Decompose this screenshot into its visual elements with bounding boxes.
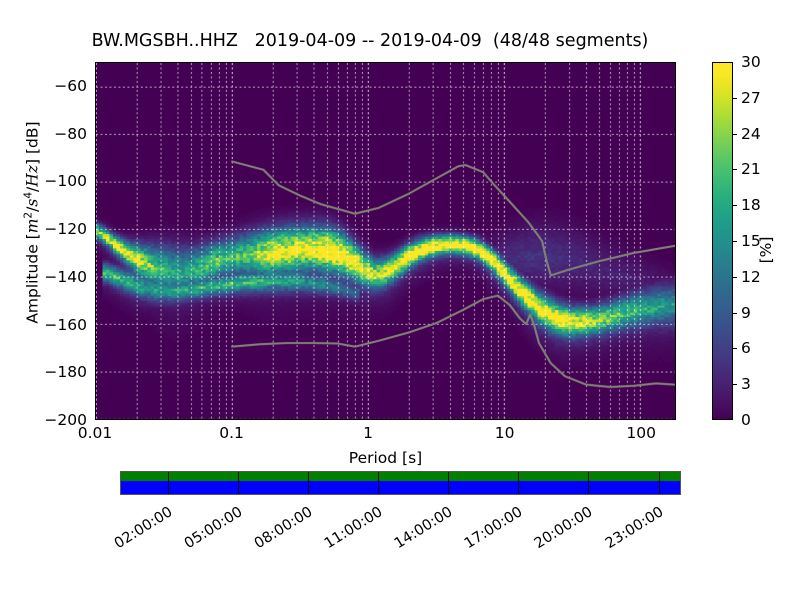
- coverage-time-label-text: 17:00:00: [462, 504, 526, 552]
- coverage-time-label: 17:00:00: [452, 501, 517, 520]
- coverage-tick: [659, 472, 660, 494]
- colorbar: [712, 62, 733, 420]
- figure-title: BW.MGSBH..HHZ 2019-04-09 -- 2019-04-09 (…: [0, 31, 740, 51]
- coverage-tick: [588, 472, 589, 494]
- coverage-band-upper: [121, 472, 680, 481]
- coverage-tick: [168, 472, 169, 494]
- coverage-time-label-text: 02:00:00: [111, 504, 175, 552]
- coverage-time-label-text: 05:00:00: [182, 504, 246, 552]
- ppsd-figure: BW.MGSBH..HHZ 2019-04-09 -- 2019-04-09 (…: [0, 0, 800, 600]
- x-tick-label: 0.01: [78, 424, 113, 442]
- colorbar-tick-label: 27: [741, 89, 761, 107]
- x-tick-label: 0.1: [219, 424, 244, 442]
- coverage-tick: [378, 472, 379, 494]
- y-tick-label: −120: [44, 220, 87, 238]
- colorbar-tick-label: 21: [741, 160, 761, 178]
- y-tick-label: −80: [54, 125, 87, 143]
- coverage-time-label-text: 23:00:00: [602, 504, 666, 552]
- colorbar-tick-label: 0: [741, 411, 751, 429]
- y-axis-label: Amplitude [m2/s4/Hz] [dB]: [22, 73, 41, 373]
- coverage-tick: [518, 472, 519, 494]
- colorbar-gradient: [713, 63, 732, 419]
- colorbar-tick-mark: [733, 384, 737, 385]
- coverage-time-label: 20:00:00: [522, 501, 587, 520]
- x-tick-label: 100: [626, 424, 656, 442]
- ppsd-axes[interactable]: [95, 62, 676, 420]
- colorbar-label: [%]: [757, 190, 775, 310]
- colorbar-tick-label: 3: [741, 375, 751, 393]
- y-tick-label: −160: [44, 316, 87, 334]
- data-coverage-bar[interactable]: [120, 471, 681, 495]
- colorbar-tick-label: 30: [741, 53, 761, 71]
- coverage-time-label: 05:00:00: [172, 501, 237, 520]
- colorbar-tick-mark: [733, 313, 737, 314]
- coverage-time-label: 14:00:00: [382, 501, 447, 520]
- colorbar-tick-mark: [733, 169, 737, 170]
- coverage-tick: [238, 472, 239, 494]
- y-tick-label: −140: [44, 268, 87, 286]
- coverage-time-label: 02:00:00: [102, 501, 167, 520]
- coverage-time-label-text: 08:00:00: [252, 504, 316, 552]
- coverage-time-label: 23:00:00: [592, 501, 657, 520]
- coverage-time-label-text: 11:00:00: [322, 504, 386, 552]
- y-tick-label: −60: [54, 77, 87, 95]
- x-tick-label: 1: [363, 424, 373, 442]
- coverage-time-label-text: 20:00:00: [532, 504, 596, 552]
- colorbar-tick-label: 9: [741, 304, 751, 322]
- colorbar-tick-mark: [733, 134, 737, 135]
- x-tick-label: 10: [495, 424, 515, 442]
- colorbar-tick-mark: [733, 98, 737, 99]
- colorbar-tick-label: 6: [741, 339, 751, 357]
- colorbar-tick-mark: [733, 277, 737, 278]
- x-axis-label: Period [s]: [95, 449, 676, 467]
- coverage-tick: [448, 472, 449, 494]
- coverage-time-label: 08:00:00: [242, 501, 307, 520]
- coverage-time-label: 11:00:00: [312, 501, 377, 520]
- colorbar-tick-mark: [733, 205, 737, 206]
- colorbar-tick-label: 24: [741, 125, 761, 143]
- y-tick-label: −100: [44, 172, 87, 190]
- colorbar-tick-mark: [733, 348, 737, 349]
- coverage-time-label-text: 14:00:00: [392, 504, 456, 552]
- coverage-tick: [308, 472, 309, 494]
- colorbar-tick-mark: [733, 241, 737, 242]
- noise-model-lines: [96, 63, 675, 419]
- coverage-band-lower: [121, 481, 680, 494]
- y-tick-label: −180: [44, 363, 87, 381]
